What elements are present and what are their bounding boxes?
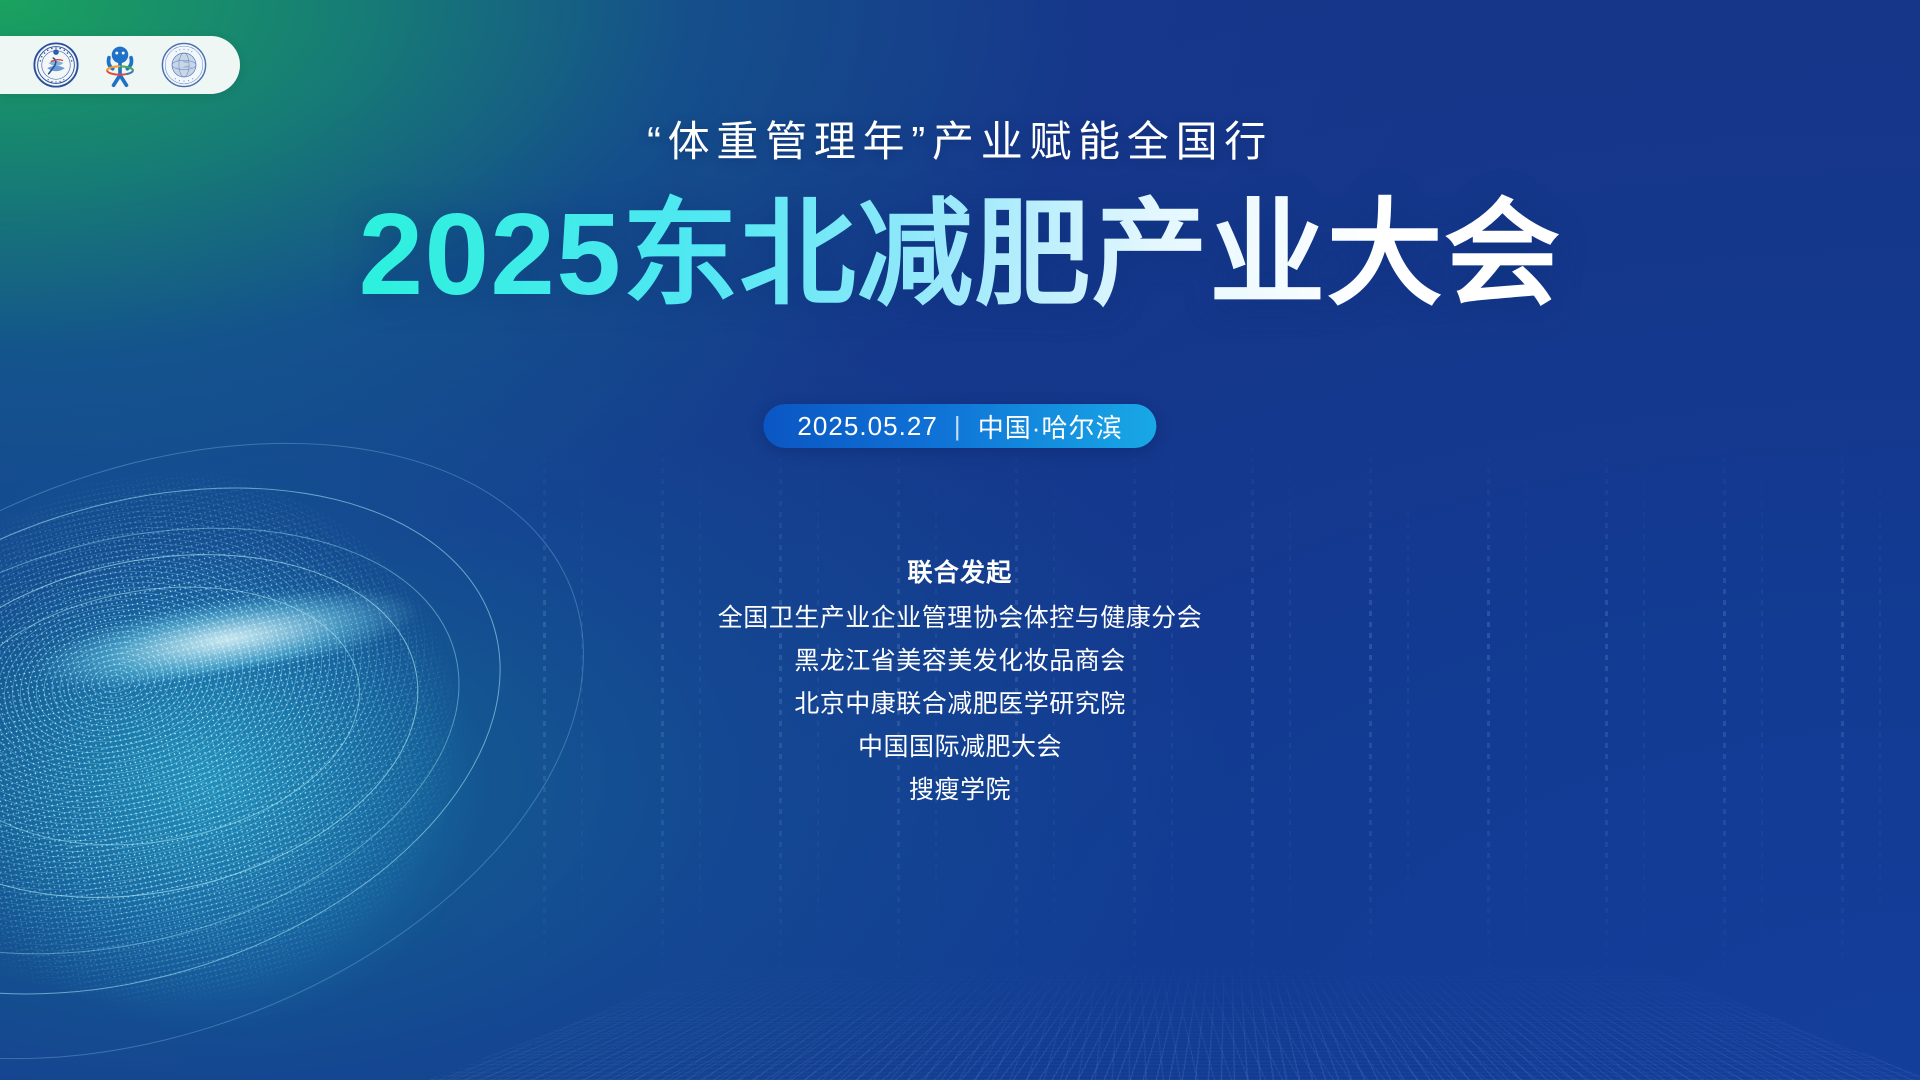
badge-separator: | (954, 411, 962, 442)
organizer-item: 全国卫生产业企业管理协会体控与健康分会 (0, 606, 1920, 631)
cnhpiea-seal-logo (33, 42, 79, 88)
conference-poster: “体重管理年”产业赋能全国行 2025东北减肥产业大会 2025.05.27 |… (0, 0, 1920, 1080)
poster-subtitle: “体重管理年”产业赋能全国行 (0, 108, 1920, 169)
date-location-badge: 2025.05.27 | 中国·哈尔滨 (763, 404, 1156, 448)
organizers-heading: 联合发起 (0, 553, 1920, 589)
organizers-block: 联合发起 全国卫生产业企业管理协会体控与健康分会 黑龙江省美容美发化妆品商会 北… (0, 553, 1920, 803)
organizer-item: 搜瘦学院 (0, 778, 1920, 803)
weight-management-person-logo (97, 42, 143, 88)
organizer-item: 黑龙江省美容美发化妆品商会 (0, 649, 1920, 674)
badge-date: 2025.05.27 (797, 411, 938, 442)
organizer-item: 中国国际减肥大会 (0, 735, 1920, 760)
badge-location: 中国·哈尔滨 (978, 408, 1123, 445)
globe-seal-logo (161, 42, 207, 88)
logo-bar (0, 36, 240, 94)
organizer-item: 北京中康联合减肥医学研究院 (0, 692, 1920, 717)
perspective-data-grid-graphic (430, 964, 1920, 1080)
poster-main-title: 2025东北减肥产业大会 (0, 192, 1920, 317)
